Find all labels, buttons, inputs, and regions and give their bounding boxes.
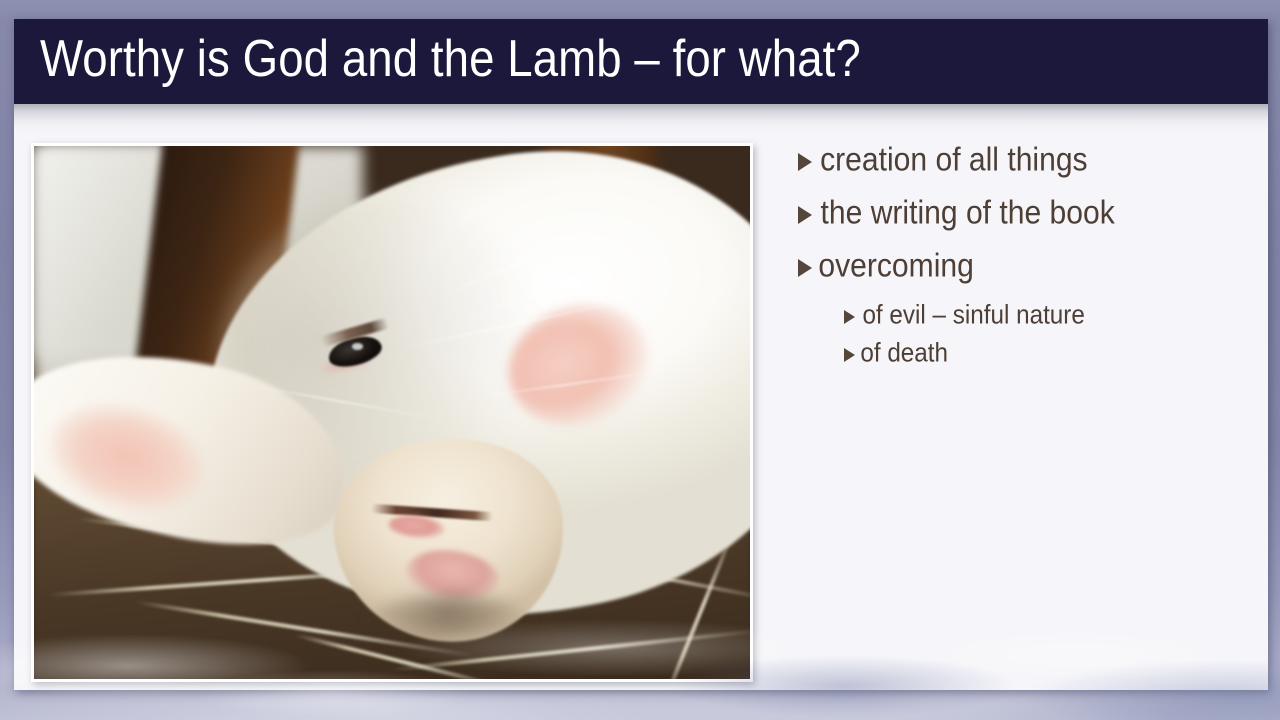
bullet-item-writing: the writing of the book [794, 197, 1244, 228]
page-title: Worthy is God and the Lamb – for what? [40, 33, 861, 85]
bullet-item-overcoming: overcoming [794, 250, 1244, 281]
lamb-photo-frame [31, 143, 753, 682]
triangle-bullet-icon [798, 153, 812, 171]
slide-title-bar: Worthy is God and the Lamb – for what? [14, 19, 1268, 104]
triangle-bullet-icon [844, 348, 855, 362]
slide: Worthy is God and the Lamb – for what? [14, 19, 1268, 690]
bullet-label: overcoming [818, 249, 973, 282]
bullet-item-creation: creation of all things [794, 144, 1244, 175]
triangle-bullet-icon [844, 310, 855, 324]
lamb-photo [34, 146, 750, 679]
title-bar-shadow [14, 104, 1268, 138]
sub-bullet-item-evil: of evil – sinful nature [794, 303, 1244, 328]
bullet-label: the writing of the book [821, 196, 1115, 229]
triangle-bullet-icon [798, 206, 812, 224]
triangle-bullet-icon [798, 259, 812, 277]
sub-bullet-item-death: of death [794, 341, 1244, 366]
sub-bullet-label: of death [860, 340, 948, 367]
photo-chin-shadow [363, 594, 535, 658]
bullet-list: creation of all things the writing of th… [794, 144, 1244, 379]
presentation-backdrop: Worthy is God and the Lamb – for what? [0, 0, 1280, 720]
photo-eye-highlight [352, 343, 363, 349]
sub-bullet-label: of evil – sinful nature [862, 302, 1084, 329]
bullet-label: creation of all things [820, 143, 1087, 176]
